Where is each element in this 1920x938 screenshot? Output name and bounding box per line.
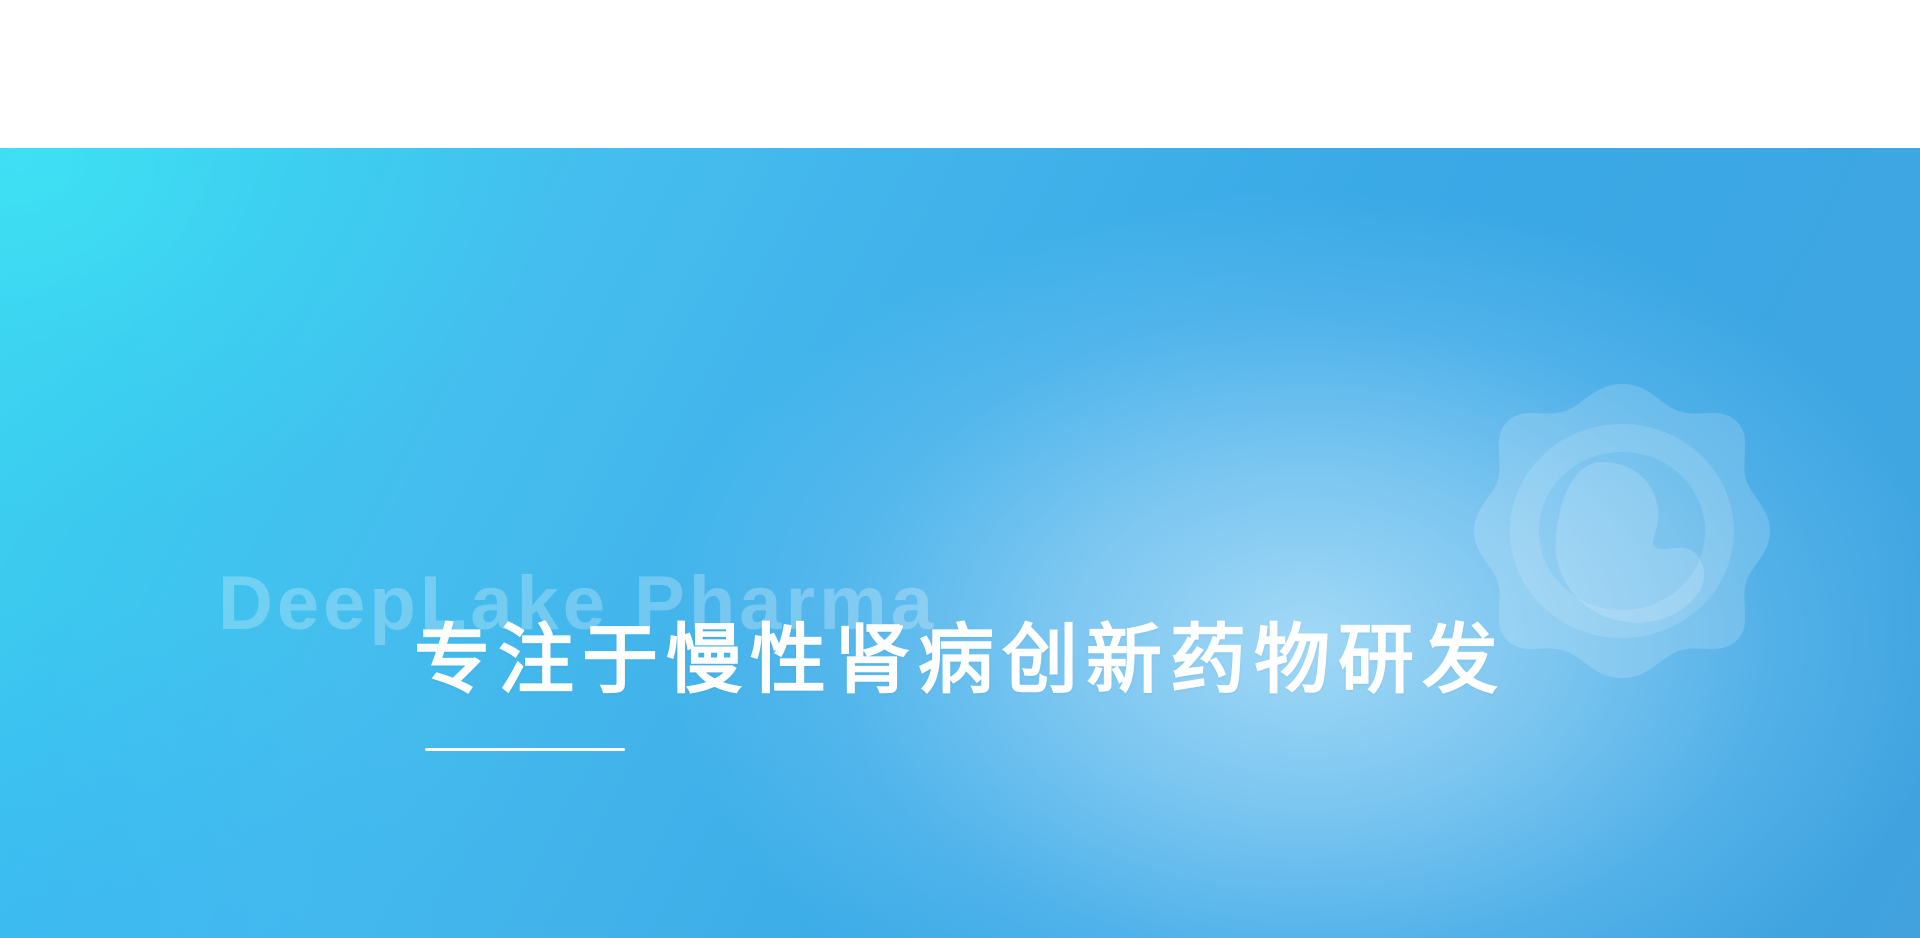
hero-banner: DeepLake Pharma 专注于慢性肾病创新药物研发 [0, 148, 1920, 938]
hero-title-block: 专注于慢性肾病创新药物研发 [414, 618, 1506, 751]
hero-gradient-wash [0, 148, 1920, 938]
title-divider [425, 748, 625, 751]
top-white-strip [0, 0, 1920, 148]
page-title: 专注于慢性肾病创新药物研发 [414, 618, 1506, 703]
